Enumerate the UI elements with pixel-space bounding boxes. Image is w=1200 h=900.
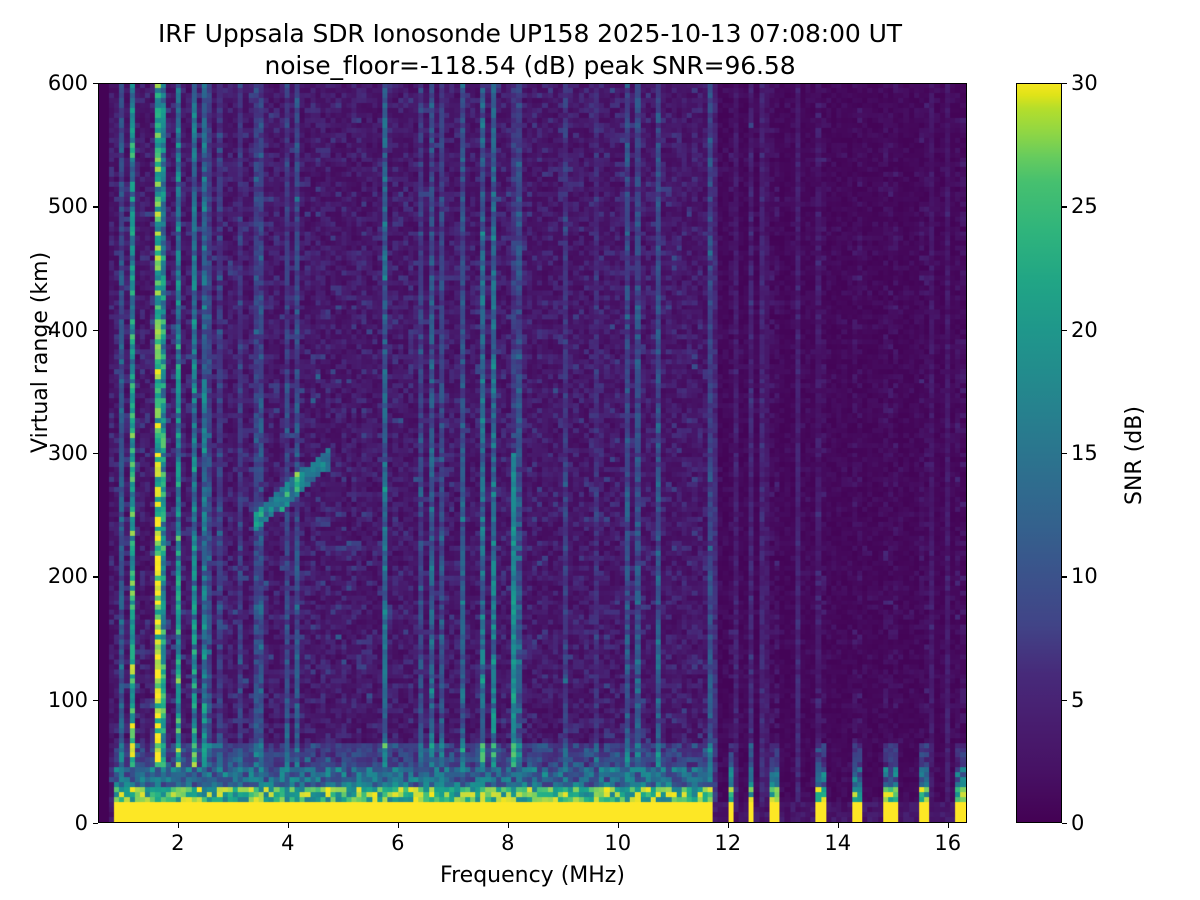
x-tick-label: 16 (934, 831, 961, 855)
y-tick (93, 330, 98, 331)
x-tick (508, 823, 509, 828)
y-tick (93, 823, 98, 824)
colorbar-tick-label: 5 (1071, 688, 1084, 712)
colorbar-tick-label: 30 (1071, 71, 1098, 95)
y-tick-label: 100 (48, 688, 88, 712)
x-tick (178, 823, 179, 828)
y-tick (93, 576, 98, 577)
colorbar-tick (1062, 576, 1067, 577)
y-tick-label: 600 (48, 71, 88, 95)
colorbar-tick-label: 0 (1071, 811, 1084, 835)
ionogram-heatmap-axes[interactable] (98, 83, 967, 823)
colorbar-tick (1062, 330, 1067, 331)
y-tick (93, 83, 98, 84)
x-tick (288, 823, 289, 828)
x-tick (838, 823, 839, 828)
colorbar-tick-label: 20 (1071, 318, 1098, 342)
colorbar-tick-label: 10 (1071, 564, 1098, 588)
x-tick (948, 823, 949, 828)
x-tick (618, 823, 619, 828)
colorbar-label: SNR (dB) (1122, 406, 1147, 505)
y-axis-label: Virtual range (km) (28, 252, 53, 453)
y-tick (93, 206, 98, 207)
x-tick-label: 10 (604, 831, 631, 855)
colorbar-tick-label: 15 (1071, 441, 1098, 465)
x-tick-label: 6 (391, 831, 404, 855)
y-tick-label: 200 (48, 564, 88, 588)
colorbar-tick (1062, 453, 1067, 454)
colorbar[interactable] (1016, 83, 1062, 823)
y-tick (93, 453, 98, 454)
heatmap-canvas (99, 84, 966, 822)
y-tick-label: 300 (48, 441, 88, 465)
x-tick-label: 14 (824, 831, 851, 855)
colorbar-tick (1062, 823, 1067, 824)
colorbar-tick-label: 25 (1071, 194, 1098, 218)
colorbar-tick (1062, 700, 1067, 701)
x-tick-label: 2 (171, 831, 184, 855)
y-tick (93, 700, 98, 701)
x-tick-label: 12 (714, 831, 741, 855)
x-tick-label: 8 (501, 831, 514, 855)
x-axis-label: Frequency (MHz) (98, 863, 967, 888)
x-tick (398, 823, 399, 828)
y-tick-label: 400 (48, 318, 88, 342)
chart-title: IRF Uppsala SDR Ionosonde UP158 2025-10-… (0, 0, 1060, 82)
ionogram-figure: IRF Uppsala SDR Ionosonde UP158 2025-10-… (0, 0, 1200, 900)
y-tick-label: 500 (48, 194, 88, 218)
y-tick-label: 0 (75, 811, 88, 835)
colorbar-tick (1062, 206, 1067, 207)
colorbar-tick (1062, 83, 1067, 84)
x-tick-label: 4 (281, 831, 294, 855)
x-tick (728, 823, 729, 828)
